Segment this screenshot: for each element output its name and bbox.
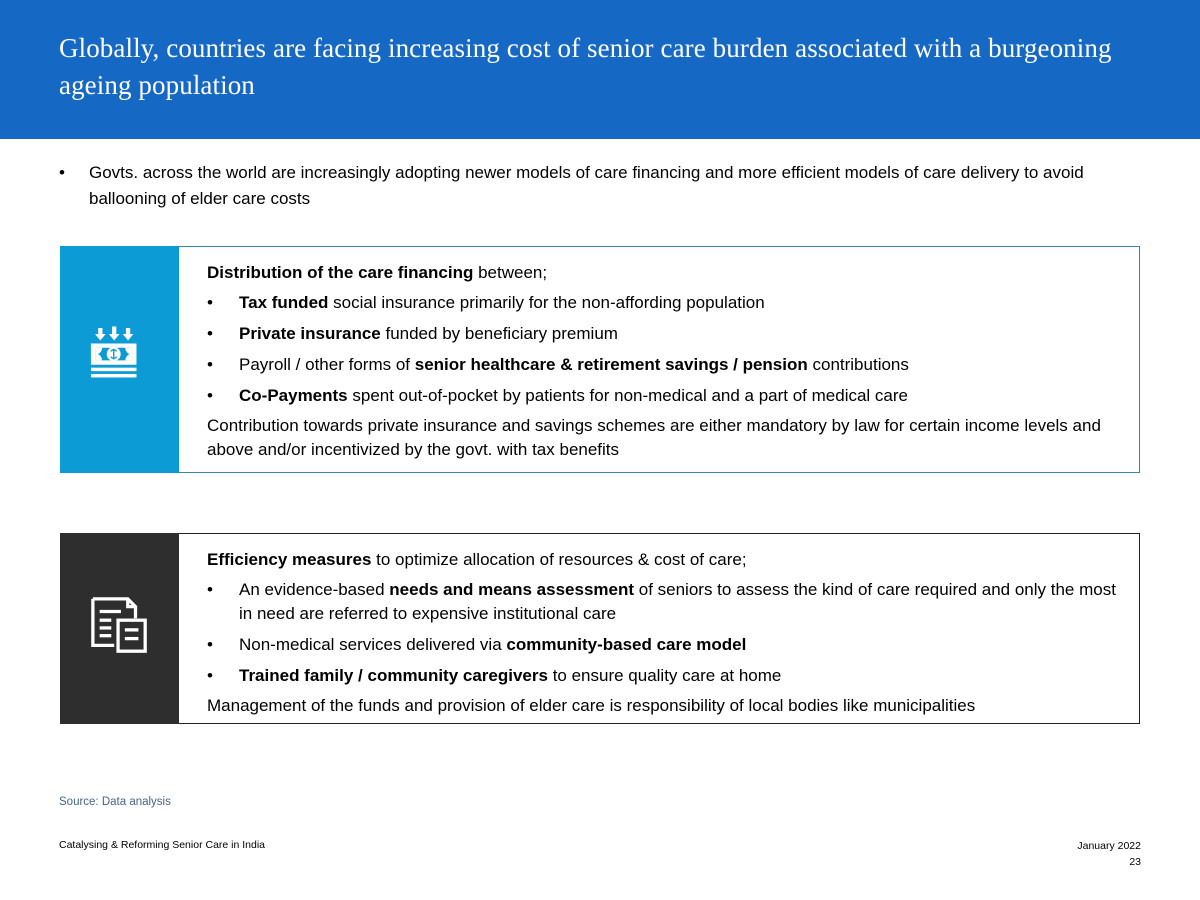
- card-list-financing: • Tax funded social insurance primarily …: [207, 291, 1123, 408]
- list-item: • Non-medical services delivered via com…: [207, 633, 1123, 657]
- card-lead-rest: between;: [473, 263, 547, 282]
- list-item-bold: community-based care model: [506, 635, 746, 654]
- list-item-text: Tax funded social insurance primarily fo…: [239, 291, 1123, 315]
- list-item-bold: Tax funded: [239, 293, 328, 312]
- document-assessment-icon: [89, 595, 151, 662]
- list-item-bold: needs and means assessment: [389, 580, 634, 599]
- card-body-efficiency: Efficiency measures to optimize allocati…: [179, 534, 1139, 723]
- list-item-bold: Private insurance: [239, 324, 381, 343]
- list-item-text: Trained family / community caregivers to…: [239, 664, 1123, 688]
- intro-text: Govts. across the world are increasingly…: [89, 160, 1134, 212]
- bullet-glyph: •: [207, 353, 239, 377]
- cash-stack-icon: [89, 326, 151, 393]
- list-item-bold: senior healthcare & retirement savings /…: [415, 355, 808, 374]
- card-icon-panel-efficiency: [60, 533, 179, 724]
- list-item-plain-lead: Payroll / other forms of: [239, 355, 415, 374]
- list-item-text: Payroll / other forms of senior healthca…: [239, 353, 1123, 377]
- bullet-glyph: •: [207, 633, 239, 657]
- list-item: • An evidence-based needs and means asse…: [207, 578, 1123, 626]
- bullet-glyph: •: [59, 160, 89, 186]
- card-tail-efficiency: Management of the funds and provision of…: [207, 694, 1123, 718]
- list-item-rest: spent out-of-pocket by patients for non-…: [348, 386, 908, 405]
- intro-bullet-row: • Govts. across the world are increasing…: [59, 160, 1134, 212]
- header-band: Globally, countries are facing increasin…: [0, 0, 1200, 139]
- list-item-text: Private insurance funded by beneficiary …: [239, 322, 1123, 346]
- page-number: 23: [1077, 854, 1141, 870]
- page-title: Globally, countries are facing increasin…: [59, 30, 1139, 104]
- list-item: • Co-Payments spent out-of-pocket by pat…: [207, 384, 1123, 408]
- footer-date: January 2022: [1077, 840, 1141, 852]
- bullet-glyph: •: [207, 664, 239, 688]
- list-item: • Private insurance funded by beneficiar…: [207, 322, 1123, 346]
- list-item-rest: social insurance primarily for the non-a…: [328, 293, 764, 312]
- list-item-rest: funded by beneficiary premium: [381, 324, 618, 343]
- list-item: • Payroll / other forms of senior health…: [207, 353, 1123, 377]
- card-body-financing: Distribution of the care financing betwe…: [179, 247, 1139, 472]
- list-item-text: Non-medical services delivered via commu…: [239, 633, 1123, 657]
- list-item-plain-lead: Non-medical services delivered via: [239, 635, 506, 654]
- bullet-glyph: •: [207, 291, 239, 315]
- footer-meta: January 2022 23: [1077, 838, 1141, 870]
- card-efficiency-measures: Efficiency measures to optimize allocati…: [60, 533, 1140, 724]
- card-list-efficiency: • An evidence-based needs and means asse…: [207, 578, 1123, 688]
- bullet-glyph: •: [207, 384, 239, 408]
- source-note: Source: Data analysis: [59, 794, 171, 810]
- card-lead-bold: Efficiency measures: [207, 550, 371, 569]
- list-item-bold: Co-Payments: [239, 386, 348, 405]
- card-lead-financing: Distribution of the care financing betwe…: [207, 261, 1123, 285]
- footer-deck-title: Catalysing & Reforming Senior Care in In…: [59, 838, 265, 852]
- list-item-bold: Trained family / community caregivers: [239, 666, 548, 685]
- bullet-glyph: •: [207, 322, 239, 346]
- list-item-rest: to ensure quality care at home: [548, 666, 781, 685]
- card-lead-rest: to optimize allocation of resources & co…: [371, 550, 746, 569]
- list-item-text: Co-Payments spent out-of-pocket by patie…: [239, 384, 1123, 408]
- list-item: • Tax funded social insurance primarily …: [207, 291, 1123, 315]
- card-icon-panel-financing: [60, 246, 179, 473]
- list-item: • Trained family / community caregivers …: [207, 664, 1123, 688]
- list-item-plain-lead: An evidence-based: [239, 580, 389, 599]
- list-item-rest: contributions: [808, 355, 909, 374]
- card-lead-efficiency: Efficiency measures to optimize allocati…: [207, 548, 1123, 572]
- card-tail-financing: Contribution towards private insurance a…: [207, 414, 1123, 462]
- card-lead-bold: Distribution of the care financing: [207, 263, 473, 282]
- bullet-glyph: •: [207, 578, 239, 602]
- card-care-financing: Distribution of the care financing betwe…: [60, 246, 1140, 473]
- list-item-text: An evidence-based needs and means assess…: [239, 578, 1123, 626]
